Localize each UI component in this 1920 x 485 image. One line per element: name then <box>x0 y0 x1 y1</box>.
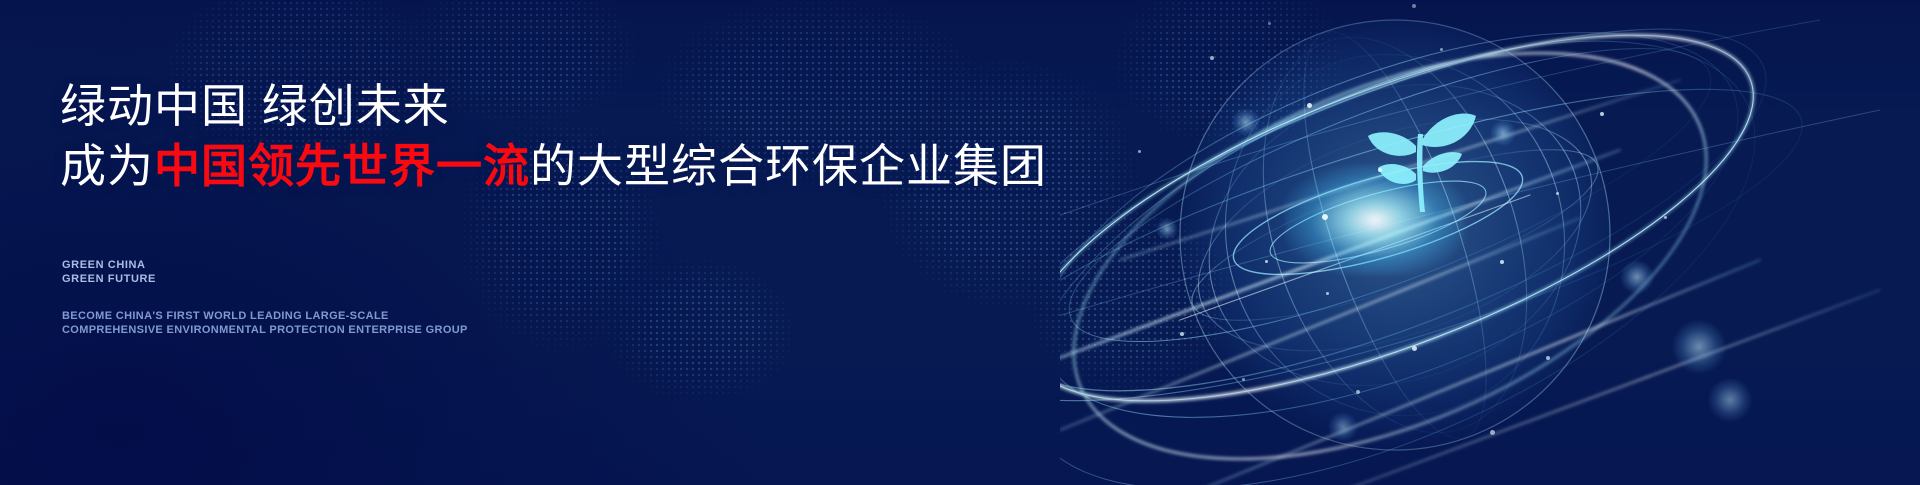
english-tagline-line-1: BECOME CHINA'S FIRST WORLD LEADING LARGE… <box>62 309 468 323</box>
headline-line-2-highlight: 中国领先世界一流 <box>154 140 530 192</box>
english-tagline: BECOME CHINA'S FIRST WORLD LEADING LARGE… <box>62 309 468 337</box>
headline-line-2: 成为中国领先世界一流的大型综合环保企业集团 <box>60 138 1040 194</box>
headline-line-2-prefix: 成为 <box>60 140 154 192</box>
hero-banner: 绿动中国 绿创未来 成为中国领先世界一流的大型综合环保企业集团 GREEN CH… <box>0 0 1920 485</box>
english-slogan-line-2: GREEN FUTURE <box>62 272 156 286</box>
banner-copy: 绿动中国 绿创未来 成为中国领先世界一流的大型综合环保企业集团 GREEN CH… <box>60 0 1060 485</box>
headline-block: 绿动中国 绿创未来 成为中国领先世界一流的大型综合环保企业集团 <box>60 78 1040 194</box>
headline-line-1: 绿动中国 绿创未来 <box>60 78 1040 134</box>
english-slogan: GREEN CHINA GREEN FUTURE <box>62 258 156 286</box>
headline-line-2-suffix: 的大型综合环保企业集团 <box>530 140 1047 192</box>
english-tagline-line-2: COMPREHENSIVE ENVIRONMENTAL PROTECTION E… <box>62 323 468 337</box>
english-slogan-line-1: GREEN CHINA <box>62 258 156 272</box>
